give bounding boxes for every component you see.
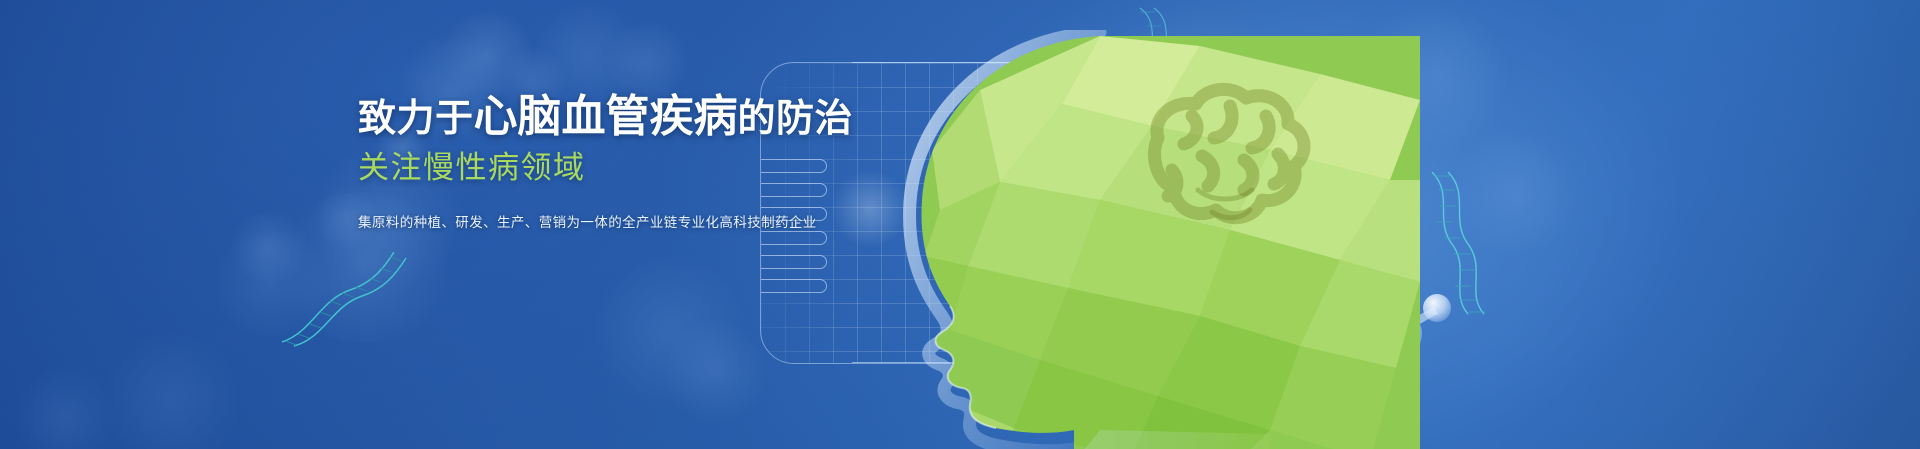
- dna-helix-icon: [272, 246, 412, 352]
- bokeh-circle: [660, 318, 772, 426]
- head-facets: [910, 30, 1420, 449]
- bokeh-circle: [440, 8, 536, 100]
- bokeh-circle: [586, 250, 754, 410]
- headline-lead: 致力于: [358, 98, 474, 140]
- page-subtitle: 关注慢性病领域: [358, 150, 788, 186]
- low-poly-head-graphic: [800, 30, 1420, 449]
- page-title: 致力于心脑血管疾病的防治: [358, 92, 788, 141]
- hero-banner: 致力于心脑血管疾病的防治 关注慢性病领域 集原料的种植、研发、生产、营销为一体的…: [0, 0, 1920, 449]
- headline-trail: 的防治: [738, 98, 854, 140]
- banner-copy: 致力于心脑血管疾病的防治 关注慢性病领域 集原料的种植、研发、生产、营销为一体的…: [358, 92, 788, 231]
- page-tagline: 集原料的种植、研发、生产、营销为一体的全产业链专业化高科技制药企业: [358, 211, 788, 231]
- headline-emphasis: 心脑血管疾病: [474, 92, 738, 141]
- bokeh-circle: [96, 330, 246, 449]
- bokeh-circle: [12, 368, 120, 449]
